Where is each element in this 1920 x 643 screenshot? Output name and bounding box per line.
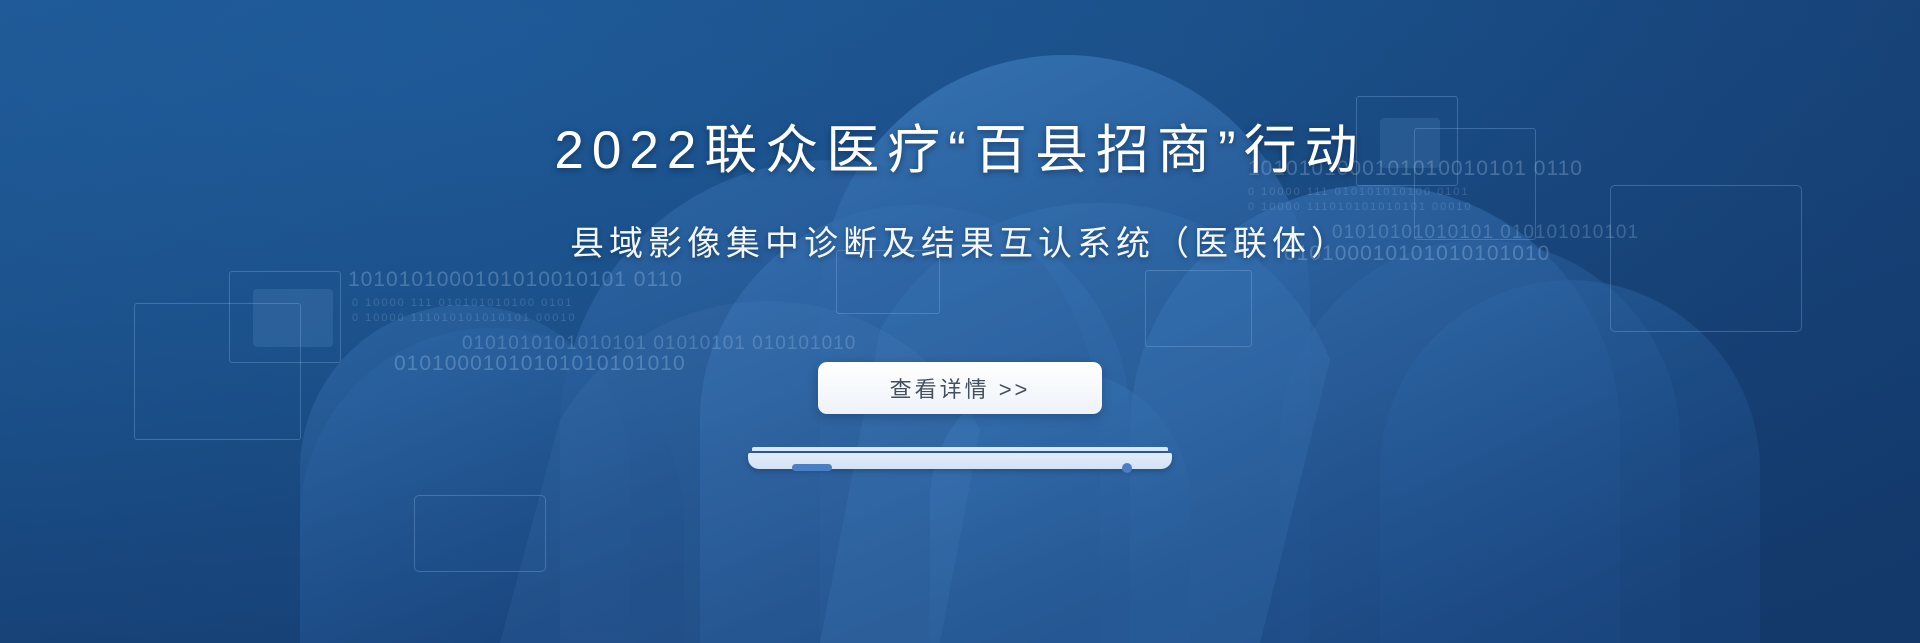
laptop-trackpad-bar-icon xyxy=(792,464,832,471)
banner-content: 2022联众医疗“百县招商”行动 县域影像集中诊断及结果互认系统（医联体） 查看… xyxy=(0,0,1920,643)
banner-title: 2022联众医疗“百县招商”行动 xyxy=(0,108,1920,184)
banner-subtitle: 县域影像集中诊断及结果互认系统（医联体） xyxy=(0,216,1920,265)
cta-container: 查看详情 >> xyxy=(0,362,1920,414)
view-details-button[interactable]: 查看详情 >> xyxy=(818,362,1102,414)
laptop-status-dot-icon xyxy=(1122,463,1132,473)
laptop-base-icon xyxy=(748,447,1172,469)
promo-banner: 1010101000101010010101 0110 0 10000 111 … xyxy=(0,0,1920,643)
laptop-body xyxy=(748,453,1172,469)
